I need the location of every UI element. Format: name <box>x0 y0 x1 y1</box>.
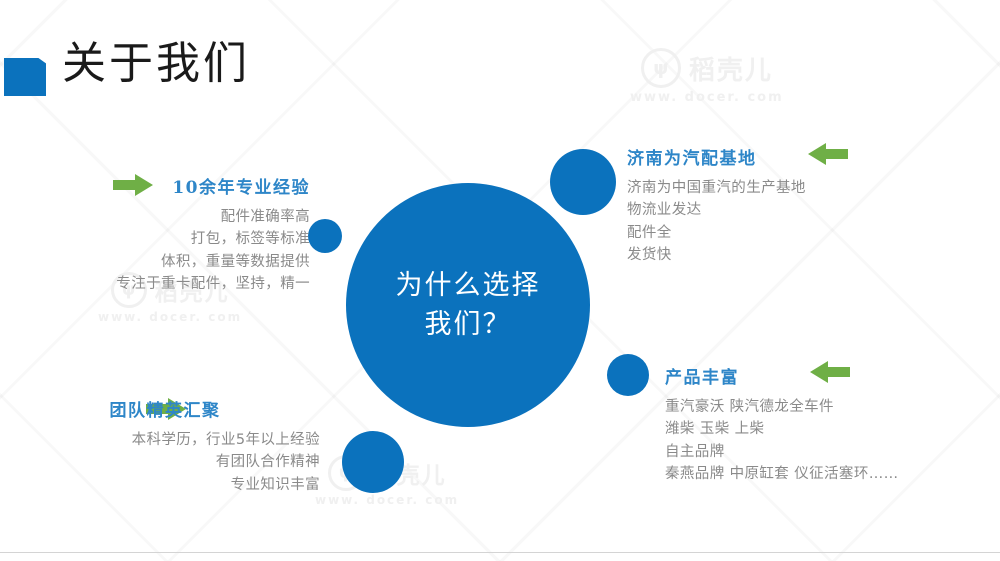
block-line: 潍柴 玉柴 上柴 <box>665 418 899 440</box>
block-line: 本科学历，行业5年以上经验 <box>0 429 330 451</box>
block-heading-team: 团队精英汇聚 <box>0 396 330 421</box>
block-heading-location: 济南为汽配基地 <box>627 144 806 169</box>
watermark-brand-text: 稻壳儿 <box>689 50 773 87</box>
block-line: 发货快 <box>627 244 806 266</box>
watermark-url-text: www. docer. com <box>98 310 242 324</box>
watermark-url-text: www. docer. com <box>315 493 459 507</box>
block-line: 配件准确率高 <box>0 206 330 228</box>
block-line: 打包，标签等标准 <box>0 228 330 250</box>
block-line: 物流业发达 <box>627 199 806 221</box>
decorative-circle-bottom-left <box>342 431 404 493</box>
decorative-circle-right <box>607 354 649 396</box>
watermark-logo-icon: ψ <box>641 48 681 88</box>
block-line: 重汽豪沃 陕汽德龙全车件 <box>665 396 899 418</box>
block-heading-experience: 10余年专业经验 <box>0 173 330 198</box>
content-block-location: 济南为汽配基地 济南为中国重汽的生产基地 物流业发达 配件全 发货快 <box>627 144 806 267</box>
page-title: 关于我们 <box>62 42 250 86</box>
block-line: 有团队合作精神 <box>0 451 330 473</box>
center-circle: 为什么选择我们？ <box>346 183 590 427</box>
content-block-products: 产品丰富 重汽豪沃 陕汽德龙全车件 潍柴 玉柴 上柴 自主品牌 秦燕品牌 中原缸… <box>665 363 899 486</box>
slide-bottom-divider <box>0 552 1000 553</box>
decorative-circle-top-right <box>550 149 616 215</box>
center-circle-label: 为什么选择我们？ <box>393 266 543 344</box>
block-heading-products: 产品丰富 <box>665 363 899 388</box>
block-line: 济南为中国重汽的生产基地 <box>627 177 806 199</box>
block-line: 配件全 <box>627 222 806 244</box>
watermark-url-text: www. docer. com <box>630 90 784 105</box>
block-line: 体积，重量等数据提供 <box>0 251 330 273</box>
arrow-left-icon <box>808 143 848 165</box>
block-line: 秦燕品牌 中原缸套 仪征活塞环…… <box>665 463 899 485</box>
block-line: 专业知识丰富 <box>0 474 330 496</box>
block-line: 自主品牌 <box>665 441 899 463</box>
slide-canvas: ψ 稻壳儿 www. docer. com ψ 稻壳儿 www. docer. … <box>0 0 1000 561</box>
title-flag-shape <box>4 58 46 96</box>
content-block-team: 团队精英汇聚 本科学历，行业5年以上经验 有团队合作精神 专业知识丰富 <box>0 396 330 496</box>
block-line: 专注于重卡配件，坚持，精一 <box>0 273 330 295</box>
content-block-experience: 10余年专业经验 配件准确率高 打包，标签等标准 体积，重量等数据提供 专注于重… <box>0 173 330 296</box>
watermark-top-right: ψ 稻壳儿 www. docer. com <box>630 48 784 105</box>
